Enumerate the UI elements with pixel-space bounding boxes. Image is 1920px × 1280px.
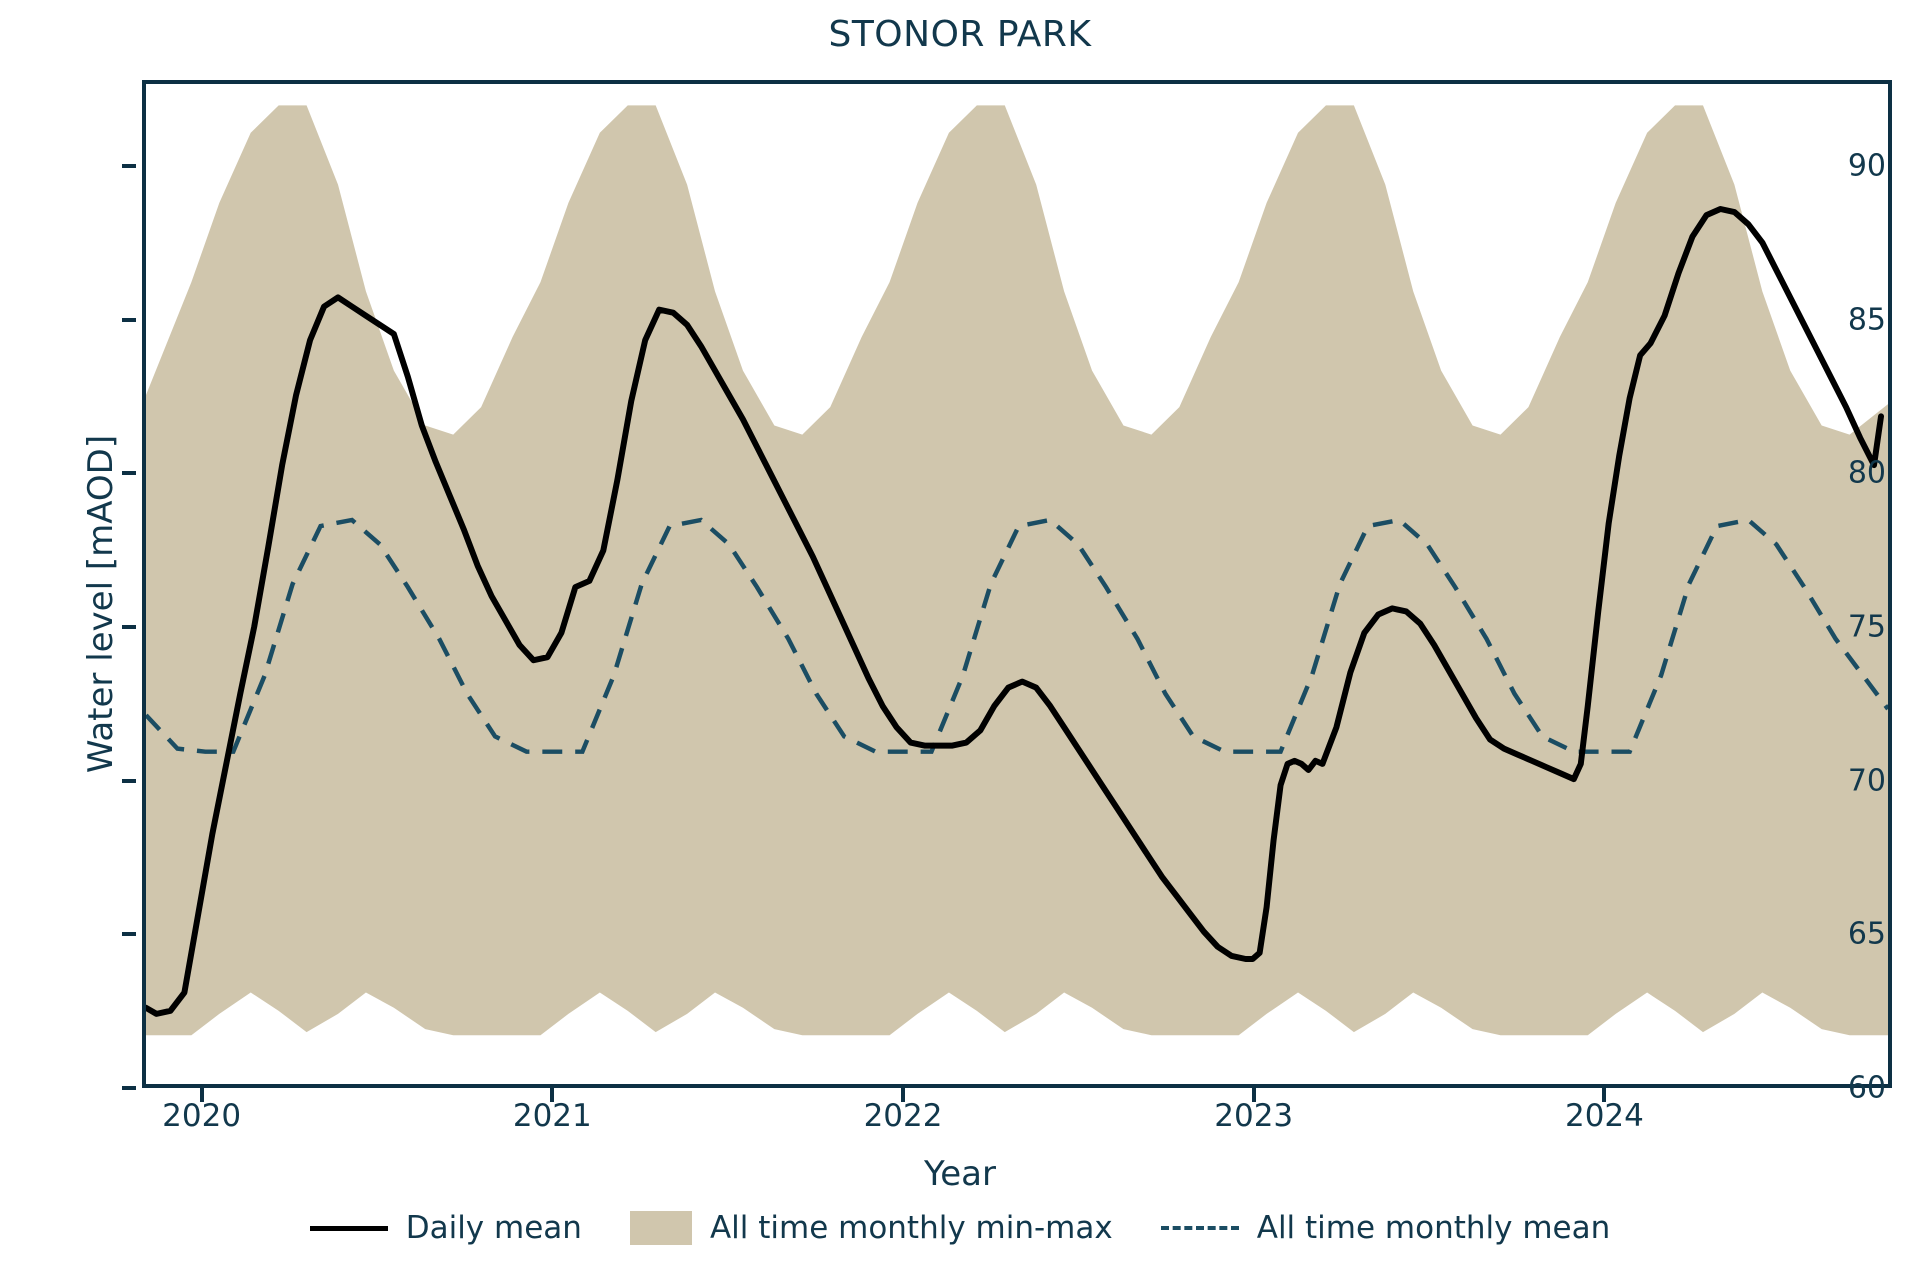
legend-label: Daily mean [406,1210,582,1246]
x-axis-title: Year [0,1154,1920,1194]
legend-label: All time monthly mean [1257,1210,1611,1246]
y-tick-label: 80 [1848,456,1886,491]
y-tick-label: 75 [1848,610,1886,645]
x-tick-mark [1602,1088,1606,1102]
y-tick-mark [122,1086,136,1090]
x-tick-label: 2024 [1565,1098,1644,1134]
chart-page: STONOR PARK Water level [mAOD] 606570758… [0,0,1920,1280]
y-tick-label: 90 [1848,149,1886,184]
x-tick-label: 2023 [1214,1098,1293,1134]
y-axis: Water level [mAOD] [0,0,142,1280]
x-tick-mark [1252,1088,1256,1102]
y-tick-label: 65 [1848,917,1886,952]
x-tick-mark [901,1088,905,1102]
dashed-swatch-icon [1161,1226,1239,1230]
x-tick-mark [550,1088,554,1102]
x-tick-label: 2020 [162,1098,241,1134]
y-tick-mark [122,471,136,475]
x-tick-label: 2022 [864,1098,943,1134]
y-tick-mark [122,779,136,783]
y-tick-label: 60 [1848,1071,1886,1106]
y-tick-mark [122,625,136,629]
legend-item-min-max[interactable]: All time monthly min-max [630,1210,1113,1246]
legend-item-monthly-mean[interactable]: All time monthly mean [1161,1210,1611,1246]
plot-area [142,80,1892,1088]
y-tick-mark [122,318,136,322]
line-swatch-icon [310,1226,388,1231]
y-tick-label: 85 [1848,302,1886,337]
legend-item-daily-mean[interactable]: Daily mean [310,1210,582,1246]
legend-label: All time monthly min-max [710,1210,1113,1246]
y-tick-label: 70 [1848,763,1886,798]
plot-canvas [146,84,1888,1084]
x-tick-mark [200,1088,204,1102]
y-axis-title: Water level [mAOD] [81,194,121,1014]
y-axis-title-wrapper: Water level [mAOD] [46,0,47,1]
y-tick-mark [122,164,136,168]
patch-swatch-icon [630,1211,692,1245]
chart-legend: Daily mean All time monthly min-max All … [0,1210,1920,1246]
minmax-band [146,105,1888,1035]
y-tick-mark [122,932,136,936]
page-title: STONOR PARK [0,14,1920,55]
x-tick-label: 2021 [513,1098,592,1134]
